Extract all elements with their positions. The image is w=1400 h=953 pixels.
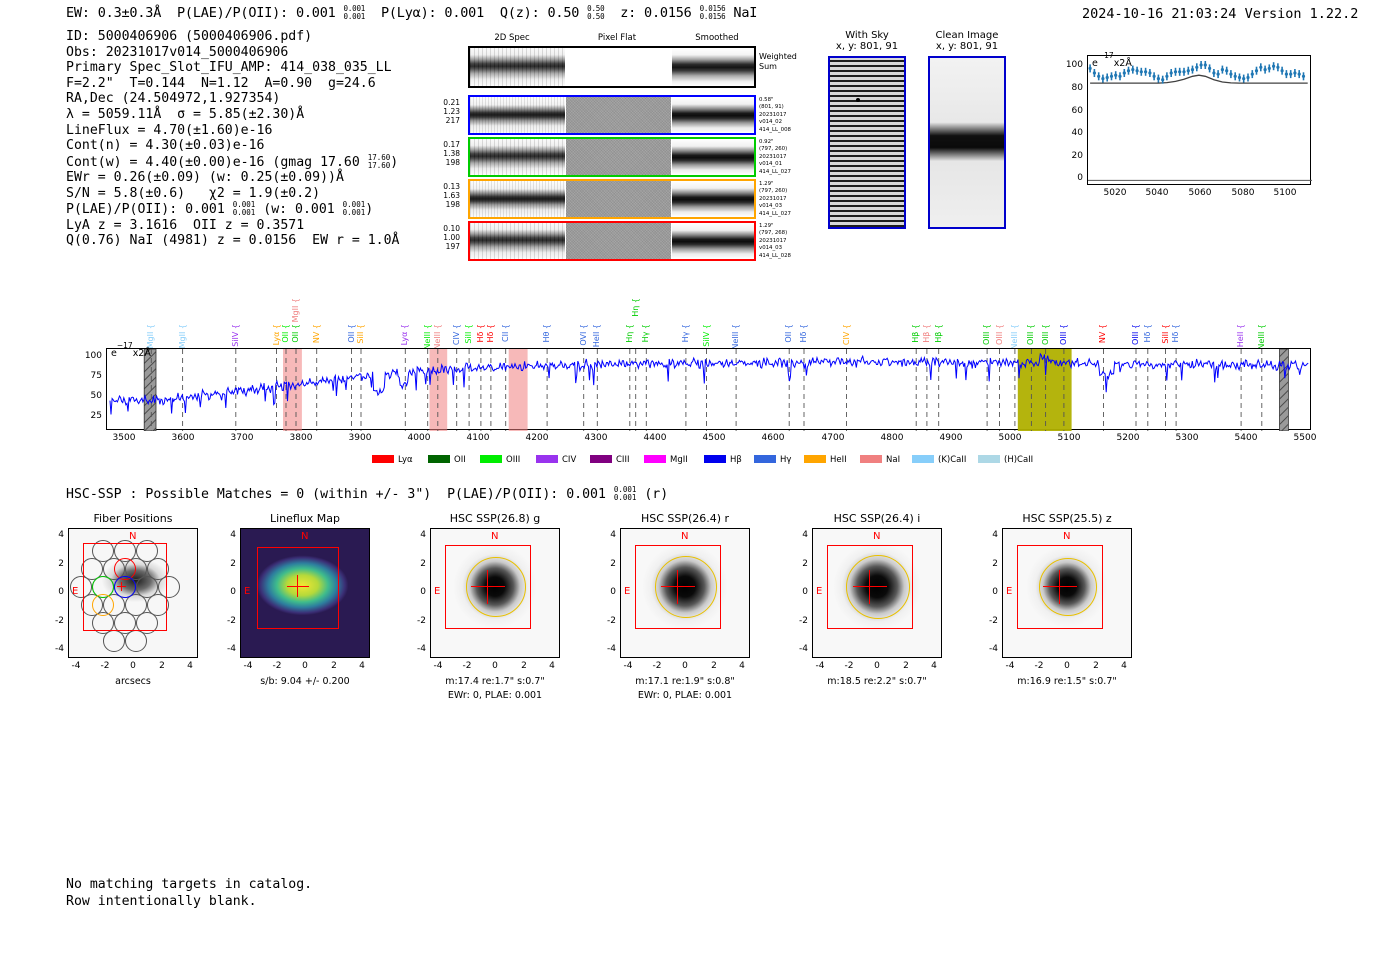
fiber-row-1-metric-1: 1.23: [443, 107, 460, 116]
east-label-1: E: [244, 586, 250, 597]
cutout-5-xtick-4: 4: [1114, 661, 1134, 671]
north-label-1: N: [301, 531, 308, 542]
fiber-row-3[interactable]: [468, 179, 756, 219]
zoom-ytick-100: 100: [1061, 60, 1083, 70]
line-label-Lyα-10: Lyα {: [400, 324, 409, 345]
cutout-0-ytick-1: 2: [46, 559, 64, 569]
east-label-3: E: [624, 586, 630, 597]
cutout-1-xtick-0: -4: [238, 661, 258, 671]
cutout-3-ytick-4: -4: [598, 644, 616, 654]
cutout-title-2: HSC SSP(26.8) g: [430, 512, 560, 525]
header-qz-label: Q(z):: [500, 5, 540, 21]
zoom-ytick-20: 20: [1061, 151, 1083, 161]
line-label-NeIII-45: NeIII {: [1257, 324, 1266, 350]
timestamp: 2024-10-16 21:03:24: [1082, 6, 1236, 22]
fiber-row-1-smoothed-image: [672, 97, 754, 133]
legend-item-(H)CaII: (H)CaII: [978, 455, 1033, 465]
legend-item-(K)CaII: (K)CaII: [912, 455, 966, 465]
info-q-classification: Q(0.76) NaI (4981) z = 0.0156 EW r = 1.0…: [66, 233, 399, 248]
emission-line-legend: LyαOIIOIIICIVCIIIMgIIHβHγHeIINaI(K)CaII(…: [372, 455, 1032, 467]
fiber-row-2-id-2: 20231017: [759, 154, 786, 160]
cutout-1-ytick-3: -2: [218, 616, 236, 626]
line-label-Hδ-16: Hδ {: [486, 324, 495, 343]
cutout-2-ytick-3: -2: [408, 616, 426, 626]
header-plae-value: 0.001: [296, 5, 336, 21]
fiber-row-4-id-2: 20231017: [759, 238, 786, 244]
cutout-0-xtick-1: -2: [95, 661, 115, 671]
cutout-2-xtick-4: 4: [542, 661, 562, 671]
full-xtick-5200: 5200: [1109, 433, 1147, 443]
line-label-Lyα-3: Lyα {: [272, 324, 281, 345]
cutout-caption1-3: m:17.1 re:1.9" s:0.8": [608, 676, 762, 687]
header-summary-line: EW: 0.3±0.3Å P(LAE)/P(OII): 0.001 0.0010…: [66, 5, 757, 21]
legend-swatch-OII: [428, 455, 450, 463]
fiber-row-3-identifiers: 1.29"(797, 260)20231017v014_03414_LL_027: [759, 181, 791, 218]
cutout-0-ytick-3: -2: [46, 616, 64, 626]
legend-item-HeII: HeII: [804, 455, 847, 465]
clean-image-subtitle: x, y: 801, 91: [928, 41, 1006, 52]
full-xtick-4800: 4800: [873, 433, 911, 443]
cutout-2-ytick-2: 0: [408, 587, 426, 597]
info-sn-chi2: S/N = 5.8(±0.6) χ2 = 1.9(±0.2): [66, 186, 320, 201]
line-label-NV-7: NV {: [312, 324, 321, 343]
full-ytick-75: 75: [72, 371, 102, 381]
cutout-4-ytick-0: 4: [790, 530, 808, 540]
legend-item-OII: OII: [428, 455, 466, 465]
with-sky-image[interactable]: [828, 56, 906, 229]
cutout-0-ytick-4: -4: [46, 644, 64, 654]
cutout-0-xtick-3: 2: [152, 661, 172, 671]
cutout-cross-v-0: [121, 582, 122, 591]
info-seeing: F=2.2" T=0.144 N=1.12 A=0.90 g=24.6: [66, 76, 376, 91]
line-label-CIV-29: CIV {: [842, 324, 851, 345]
legend-swatch-Lyα: [372, 455, 394, 463]
legend-label-Hγ: Hγ: [780, 455, 791, 465]
weighted-sum-pixelflat-image: [566, 48, 671, 86]
footer-line-1: No matching targets in catalog.: [66, 877, 312, 892]
fiber-circle-19: [103, 630, 125, 652]
line-label-OII-27: OII {: [784, 324, 793, 343]
line-label-Hβ-30: Hβ {: [911, 324, 920, 343]
full-xtick-5100: 5100: [1050, 433, 1088, 443]
line-label-CII-17: CII {: [501, 324, 510, 342]
zoomed-line-spectrum-chart[interactable]: e−17x2Å 02040608010050205040506050805100: [1043, 55, 1311, 211]
cutout-1-ytick-4: -4: [218, 644, 236, 654]
legend-swatch-Hγ: [754, 455, 776, 463]
cutout-5-xtick-1: -2: [1029, 661, 1049, 671]
fiber-row-3-pixelflat-image: [566, 181, 671, 217]
fiber-row-1-pixelflat-image: [566, 97, 671, 133]
line-label-HeII-20: HeII {: [592, 324, 601, 347]
legend-label-NaI: NaI: [886, 455, 900, 465]
legend-label-(H)CaII: (H)CaII: [1004, 455, 1033, 465]
header-plae-label: P(LAE)/P(OII):: [177, 5, 288, 21]
line-label-NeIII-11: NeIII {: [423, 324, 432, 350]
cutout-5-xtick-3: 2: [1086, 661, 1106, 671]
line-label-SiII-42: SiII {: [1161, 324, 1170, 344]
zoom-xtick-5080: 5080: [1226, 188, 1260, 198]
east-label-5: E: [1006, 586, 1012, 597]
full-spectrum-chart[interactable]: MgII {MgII {SiIV {Lyα {OII {OII {MgII {N…: [66, 268, 1311, 450]
line-label-Hγ-23: Hγ {: [641, 324, 650, 342]
full-xtick-3900: 3900: [341, 433, 379, 443]
with-sky-subtitle: x, y: 801, 91: [828, 41, 906, 52]
cutout-caption2-3: EWr: 0, PLAE: 0.001: [608, 690, 762, 701]
line-label-Hγ-24: Hγ {: [681, 324, 690, 342]
fiber-row-4-metric-2: 197: [446, 242, 460, 251]
cutout-4-xtick-0: -4: [810, 661, 830, 671]
full-xtick-4900: 4900: [932, 433, 970, 443]
column-header-2dspec: 2D Spec: [462, 33, 562, 43]
fiber-row-3-metric-1: 1.63: [443, 191, 460, 200]
header-timestamp-version: 2024-10-16 21:03:24 Version 1.22.2: [1082, 6, 1358, 22]
line-label-Hδ-43: Hδ {: [1171, 324, 1180, 343]
cutout-3-xtick-3: 2: [704, 661, 724, 671]
legend-label-(K)CaII: (K)CaII: [938, 455, 966, 465]
fiber-row-1-id-2: 20231017: [759, 112, 786, 118]
legend-item-CIV: CIV: [536, 455, 576, 465]
cutout-3-xtick-1: -2: [647, 661, 667, 671]
line-label-MgII-0: MgII {: [146, 324, 155, 348]
header-plya-value: 0.001: [444, 5, 484, 21]
hsc-header-range: 0.0010.001: [614, 486, 637, 502]
fiber-row-3-metrics: 0.131.63198: [428, 183, 460, 209]
full-xtick-5400: 5400: [1227, 433, 1265, 443]
fiber-row-4-smoothed-image: [672, 223, 754, 259]
full-xtick-4400: 4400: [636, 433, 674, 443]
fiber-row-4-metrics: 0.101.00197: [428, 225, 460, 251]
column-header-smoothed: Smoothed: [667, 33, 767, 43]
line-label-NeIII-26: NeIII {: [731, 324, 740, 350]
fiber-row-3-id-3: v014_03: [759, 203, 782, 209]
legend-item-CIII: CIII: [590, 455, 629, 465]
cutout-0-xtick-0: -4: [66, 661, 86, 671]
cutout-2-ytick-0: 4: [408, 530, 426, 540]
fiber-row-2[interactable]: [468, 137, 756, 177]
fiber-row-1-id-4: 414_LL_008: [759, 127, 791, 133]
full-xtick-3700: 3700: [223, 433, 261, 443]
info-plae-poii: P(LAE)/P(OII): 0.001 0.0010.001 (w: 0.00…: [66, 202, 373, 217]
cutout-3-ytick-1: 2: [598, 559, 616, 569]
full-xtick-5000: 5000: [991, 433, 1029, 443]
cutout-2-xtick-0: -4: [428, 661, 448, 671]
full-xtick-4000: 4000: [400, 433, 438, 443]
cutout-5-xtick-0: -4: [1000, 661, 1020, 671]
line-label-OIII-33: OIII {: [982, 324, 991, 345]
legend-item-Hγ: Hγ: [754, 455, 791, 465]
fiber-row-4-identifiers: 1.29"(797, 268)20231017v014_03414_LL_028: [759, 223, 791, 260]
info-lineflux: LineFlux = 4.70(±1.60)e-16: [66, 123, 272, 138]
legend-label-HeII: HeII: [830, 455, 847, 465]
cutout-cross-v-3: [677, 570, 678, 604]
cutout-0-ytick-2: 0: [46, 587, 64, 597]
info-obs: Obs: 20231017v014_5000406906: [66, 45, 288, 60]
cutout-title-3: HSC SSP(26.4) r: [620, 512, 750, 525]
north-label-5: N: [1063, 531, 1070, 542]
version: Version 1.22.2: [1245, 6, 1359, 22]
north-label-2: N: [491, 531, 498, 542]
cutout-cross-v-5: [1059, 570, 1060, 604]
line-label-Hδ-28: Hδ {: [799, 324, 808, 343]
line-label-NeIII-35: NeIII {: [1010, 324, 1019, 350]
legend-label-MgII: MgII: [670, 455, 688, 465]
fiber-row-4-id-4: 414_LL_028: [759, 253, 791, 259]
legend-item-NaI: NaI: [860, 455, 900, 465]
cutout-2-xtick-1: -2: [457, 661, 477, 671]
fiber-row-2-identifiers: 0.92"(797, 260)20231017v014_01414_LL_027: [759, 139, 791, 176]
cutout-2-ytick-1: 2: [408, 559, 426, 569]
fiber-row-2-pixelflat-image: [566, 139, 671, 175]
line-label-OIII-36: OIII {: [1026, 324, 1035, 345]
cutout-axes-4: N E: [812, 528, 942, 658]
fiber-row-3-id-0: 1.29": [759, 181, 773, 187]
cutout-caption2-2: EWr: 0, PLAE: 0.001: [418, 690, 572, 701]
hsc-header-text: HSC-SSP : Possible Matches = 0 (within +…: [66, 487, 614, 502]
legend-swatch-CIV: [536, 455, 558, 463]
cutout-axes-3: N E: [620, 528, 750, 658]
fiber-row-1-id-1: (801, 91): [759, 104, 784, 110]
legend-label-CIV: CIV: [562, 455, 576, 465]
cutout-caption1-0: arcsecs: [56, 676, 210, 687]
cutout-5-ytick-1: 2: [980, 559, 998, 569]
cutout-title-4: HSC SSP(26.4) i: [812, 512, 942, 525]
cutout-title-0: Fiber Positions: [68, 512, 198, 525]
cutout-axes-1: N E: [240, 528, 370, 658]
full-xtick-4500: 4500: [695, 433, 733, 443]
header-qz-range: 0.500.50: [587, 5, 604, 21]
header-qz-value: 0.50: [547, 5, 579, 21]
legend-swatch-(K)CaII: [912, 455, 934, 463]
cutout-cross-v-2: [487, 570, 488, 604]
info-wavelength: λ = 5059.11Å σ = 5.85(±2.30)Å: [66, 107, 304, 122]
line-label-CIV-13: CIV {: [452, 324, 461, 345]
info-id: ID: 5000406906 (5000406906.pdf): [66, 29, 312, 44]
cutout-5-ytick-4: -4: [980, 644, 998, 654]
line-label-Hη-21: Hη {: [625, 324, 634, 343]
header-z-line: NaI: [733, 5, 757, 21]
line-label-OVI-19: OVI {: [579, 324, 588, 346]
fiber-row-1-id-3: v014_02: [759, 119, 782, 125]
zoom-xtick-5040: 5040: [1140, 188, 1174, 198]
legend-label-OII: OII: [454, 455, 466, 465]
info-ewr: EWr = 0.26(±0.09) (w: 0.25(±0.09))Å: [66, 170, 344, 185]
zoom-ytick-40: 40: [1061, 128, 1083, 138]
header-ew: EW: 0.3±0.3Å: [66, 5, 161, 21]
line-label-OIII-38: OIII {: [1059, 324, 1068, 345]
east-label-4: E: [816, 586, 822, 597]
full-xtick-5300: 5300: [1168, 433, 1206, 443]
fiber-row-4-metric-0: 0.10: [443, 224, 460, 233]
fiber-row-4-id-3: v014_03: [759, 245, 782, 251]
hsc-header-filter: (r): [636, 487, 668, 502]
full-xtick-3500: 3500: [105, 433, 143, 443]
legend-item-MgII: MgII: [644, 455, 688, 465]
fiber-row-1-metric-2: 217: [446, 116, 460, 125]
sky-source-dot: [856, 98, 860, 102]
north-label-4: N: [873, 531, 880, 542]
cutout-1-xtick-4: 4: [352, 661, 372, 671]
line-label-SiII-14: SiII {: [464, 324, 473, 344]
cutout-1-xtick-2: 0: [295, 661, 315, 671]
with-sky-title: With Sky: [828, 30, 906, 41]
line-label-SiIV-25: SiIV {: [702, 324, 711, 347]
cutout-0-ytick-0: 4: [46, 530, 64, 540]
cutout-5-ytick-3: -2: [980, 616, 998, 626]
legend-item-Lyα: Lyα: [372, 455, 413, 465]
fiber-row-3-2dspec-image: [470, 181, 565, 217]
full-xtick-4600: 4600: [754, 433, 792, 443]
line-label-NeIII-12: NeIII {: [433, 324, 442, 350]
full-ytick-25: 25: [72, 411, 102, 421]
weighted-sum-label: WeightedSum: [759, 52, 797, 72]
full-flux-unit-label: e−17x2Å: [111, 348, 151, 359]
full-xtick-4100: 4100: [459, 433, 497, 443]
east-label-2: E: [434, 586, 440, 597]
twod-spec-panel: 2D Spec Pixel Flat Smoothed WeightedSum …: [462, 33, 792, 258]
fiber-circle-20: [125, 630, 147, 652]
cutout-caption1-4: m:18.5 re:2.2" s:0.7": [800, 676, 954, 687]
line-label-Hη-22: Hη {: [631, 298, 640, 317]
clean-image-title: Clean Image: [928, 30, 1006, 41]
full-ytick-50: 50: [72, 391, 102, 401]
fiber-row-2-metric-2: 198: [446, 158, 460, 167]
cutout-4-ytick-3: -2: [790, 616, 808, 626]
with-sky-panel: With Sky x, y: 801, 91: [828, 30, 906, 229]
cutout-0-xtick-4: 4: [180, 661, 200, 671]
fiber-row-2-smoothed-image: [672, 139, 754, 175]
fiber-row-2-2dspec-image: [470, 139, 565, 175]
full-xtick-4200: 4200: [518, 433, 556, 443]
cutout-3-ytick-2: 0: [598, 587, 616, 597]
source-info-block: ID: 5000406906 (5000406906.pdf) Obs: 202…: [66, 29, 399, 249]
cutout-cross-v-4: [869, 570, 870, 604]
header-plae-range: 0.0010.001: [344, 5, 366, 21]
cutout-1-xtick-3: 2: [324, 661, 344, 671]
fiber-row-2-id-1: (797, 260): [759, 146, 787, 152]
info-redshift-solutions: LyA z = 3.1616 OII z = 0.3571: [66, 218, 304, 233]
fiber-row-2-id-4: 414_LL_027: [759, 169, 791, 175]
fiber-row-3-id-1: (797, 260): [759, 188, 787, 194]
legend-swatch-(H)CaII: [978, 455, 1000, 463]
cutout-3-xtick-2: 0: [675, 661, 695, 671]
cutout-1-ytick-1: 2: [218, 559, 236, 569]
cutout-4-xtick-2: 0: [867, 661, 887, 671]
cutout-axes-0: N E: [68, 528, 198, 658]
zoom-xtick-5020: 5020: [1098, 188, 1132, 198]
cutout-caption1-5: m:16.9 re:1.5" s:0.7": [990, 676, 1144, 687]
zoom-ytick-60: 60: [1061, 106, 1083, 116]
zoom-flux-unit-label: e−17x2Å: [1092, 58, 1132, 69]
header-plya-label: P(Lyα):: [381, 5, 437, 21]
line-label-OIII-37: OIII {: [1041, 324, 1050, 345]
cutout-3-xtick-4: 4: [732, 661, 752, 671]
line-label-HeII-44: HeII {: [1236, 324, 1245, 347]
fiber-row-4-pixelflat-image: [566, 223, 671, 259]
clean-image-panel: Clean Image x, y: 801, 91: [928, 30, 1006, 229]
fiber-row-1-id-0: 0.58": [759, 97, 773, 103]
full-xtick-4300: 4300: [577, 433, 615, 443]
fiber-row-1-metric-0: 0.21: [443, 98, 460, 107]
fiber-row-2-metrics: 0.171.38198: [428, 141, 460, 167]
north-label-3: N: [681, 531, 688, 542]
info-continuum-wide: Cont(w) = 4.40(±0.00)e-16 (gmag 17.60 17…: [66, 155, 398, 170]
fiber-row-2-metric-0: 0.17: [443, 140, 460, 149]
column-header-pixelflat: Pixel Flat: [567, 33, 667, 43]
fiber-row-3-smoothed-image: [672, 181, 754, 217]
cutout-caption1-2: m:17.4 re:1.7" s:0.7": [418, 676, 572, 687]
line-label-SiIV-2: SiIV {: [231, 324, 240, 347]
weighted-sum-2dspec-image: [470, 48, 565, 86]
fiber-row-3-metric-0: 0.13: [443, 182, 460, 191]
weighted-sum-smoothed-image: [672, 48, 754, 86]
cutout-4-ytick-4: -4: [790, 644, 808, 654]
line-label-OII-5: OII {: [291, 324, 300, 343]
cutout-cross-v-1: [297, 575, 298, 597]
fiber-row-1-metrics: 0.211.23217: [428, 99, 460, 125]
clean-image-image[interactable]: [928, 56, 1006, 229]
line-label-MgII-1: MgII {: [178, 324, 187, 348]
full-xtick-3800: 3800: [282, 433, 320, 443]
legend-swatch-MgII: [644, 455, 666, 463]
zoom-ytick-0: 0: [1061, 173, 1083, 183]
fiber-row-2-id-3: v014_01: [759, 161, 782, 167]
info-radec: RA,Dec (24.504972,1.927354): [66, 91, 280, 106]
cutout-panel-row: Fiber Positions N E -4-2024420-2-4arcsec…: [0, 512, 1400, 722]
footer-note: No matching targets in catalog. Row inte…: [66, 876, 312, 910]
line-label-NV-39: NV {: [1098, 324, 1107, 343]
fiber-row-2-id-0: 0.92": [759, 139, 773, 145]
fiber-row-3-id-2: 20231017: [759, 196, 786, 202]
cutout-title-1: Lineflux Map: [240, 512, 370, 525]
north-label-0: N: [129, 531, 136, 542]
fiber-row-4-2dspec-image: [470, 223, 565, 259]
fiber-row-1-identifiers: 0.58"(801, 91)20231017v014_02414_LL_008: [759, 97, 791, 134]
weighted-sum-row[interactable]: [468, 46, 756, 88]
zoom-ytick-80: 80: [1061, 83, 1083, 93]
cutout-4-ytick-2: 0: [790, 587, 808, 597]
legend-item-Hβ: Hβ: [704, 455, 742, 465]
full-xtick-5500: 5500: [1286, 433, 1324, 443]
line-label-Hβ-32: Hβ {: [934, 324, 943, 343]
legend-label-Hβ: Hβ: [730, 455, 742, 465]
cutout-1-xtick-1: -2: [267, 661, 287, 671]
fiber-row-3-id-4: 414_LL_027: [759, 211, 791, 217]
cutout-3-xtick-0: -4: [618, 661, 638, 671]
full-xtick-3600: 3600: [164, 433, 202, 443]
fiber-row-4[interactable]: [468, 221, 756, 261]
line-label-OIII-34: OIII {: [995, 324, 1004, 345]
cutout-caption1-1: s/b: 9.04 +/- 0.200: [228, 676, 382, 687]
cutout-3-ytick-0: 4: [598, 530, 616, 540]
cutout-0-xtick-2: 0: [123, 661, 143, 671]
cutout-5-ytick-0: 4: [980, 530, 998, 540]
east-label-0: E: [72, 586, 78, 597]
cutout-5-xtick-2: 0: [1057, 661, 1077, 671]
cutout-3-ytick-3: -2: [598, 616, 616, 626]
header-z-value: 0.0156: [644, 5, 692, 21]
legend-swatch-Hβ: [704, 455, 726, 463]
cutout-1-ytick-0: 4: [218, 530, 236, 540]
cutout-axes-5: N E: [1002, 528, 1132, 658]
cutout-4-ytick-1: 2: [790, 559, 808, 569]
zoom-xtick-5100: 5100: [1268, 188, 1302, 198]
header-z-label: z:: [620, 5, 636, 21]
legend-label-Lyα: Lyα: [398, 455, 413, 465]
cutout-2-xtick-2: 0: [485, 661, 505, 671]
cutout-title-5: HSC SSP(25.5) z: [1002, 512, 1132, 525]
fiber-row-1[interactable]: [468, 95, 756, 135]
legend-swatch-OIII: [480, 455, 502, 463]
